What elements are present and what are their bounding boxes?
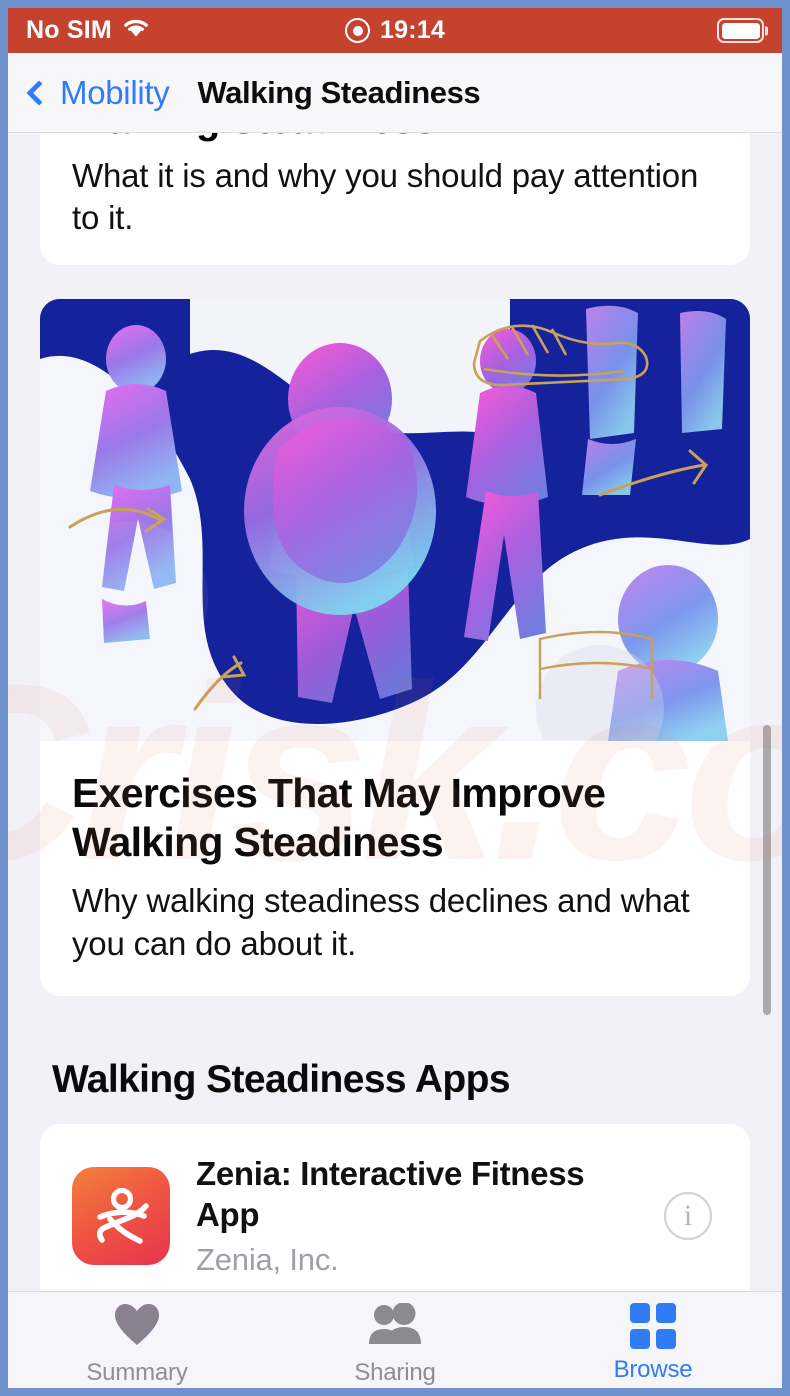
status-bar-time: 19:14 xyxy=(380,16,445,45)
article-subtitle: Why walking steadiness declines and what… xyxy=(40,866,750,996)
app-name: Zenia: Interactive Fitness App xyxy=(196,1154,638,1236)
wifi-icon xyxy=(121,16,151,46)
article-hero-image xyxy=(40,299,750,741)
section-header-apps: Walking Steadiness Apps xyxy=(52,1058,782,1102)
people-icon xyxy=(367,1303,423,1352)
tab-summary[interactable]: Summary xyxy=(8,1292,266,1387)
status-bar: No SIM 19:14 xyxy=(8,8,782,53)
article-card-exercises[interactable]: Exercises That May Improve Walking Stead… xyxy=(40,299,750,996)
tab-label: Summary xyxy=(86,1359,187,1387)
list-item[interactable]: Zenia: Interactive Fitness App Zenia, In… xyxy=(40,1124,750,1291)
app-developer: Zenia, Inc. xyxy=(196,1242,638,1278)
article-card-intro[interactable]: Walking Steadiness What it is and why yo… xyxy=(40,133,750,265)
article-subtitle: What it is and why you should pay attent… xyxy=(40,143,750,239)
tab-bar: Summary Sharing Browse xyxy=(8,1291,782,1388)
status-bar-right xyxy=(717,18,764,43)
tab-sharing[interactable]: Sharing xyxy=(266,1292,524,1387)
info-circle-icon[interactable]: i xyxy=(664,1192,712,1240)
phone-screen: No SIM 19:14 Mobility Walking Steadiness xyxy=(8,8,782,1388)
scroll-content[interactable]: PCrisk.com Walking Steadiness What it is… xyxy=(8,133,782,1291)
battery-full-icon xyxy=(717,18,764,43)
back-button-label: Mobility xyxy=(60,74,169,112)
page-title: Walking Steadiness xyxy=(197,75,480,111)
grid-icon xyxy=(630,1303,676,1349)
status-bar-left: No SIM xyxy=(26,16,151,46)
carrier-label: No SIM xyxy=(26,16,112,45)
zenia-app-icon xyxy=(72,1167,170,1265)
article-title: Exercises That May Improve Walking Stead… xyxy=(40,741,750,866)
back-button[interactable]: Mobility xyxy=(30,74,169,112)
tab-label: Sharing xyxy=(354,1359,435,1387)
tab-browse[interactable]: Browse xyxy=(524,1292,782,1384)
tab-label: Browse xyxy=(614,1356,693,1384)
screen-recording-icon xyxy=(345,18,370,43)
vertical-scrollbar[interactable] xyxy=(763,725,771,1015)
article-title: Walking Steadiness xyxy=(40,133,750,143)
navigation-bar: Mobility Walking Steadiness xyxy=(8,53,782,133)
heart-icon xyxy=(113,1303,161,1352)
app-text-block: Zenia: Interactive Fitness App Zenia, In… xyxy=(196,1154,638,1278)
apps-card: Zenia: Interactive Fitness App Zenia, In… xyxy=(40,1124,750,1291)
chevron-left-icon xyxy=(26,80,51,105)
